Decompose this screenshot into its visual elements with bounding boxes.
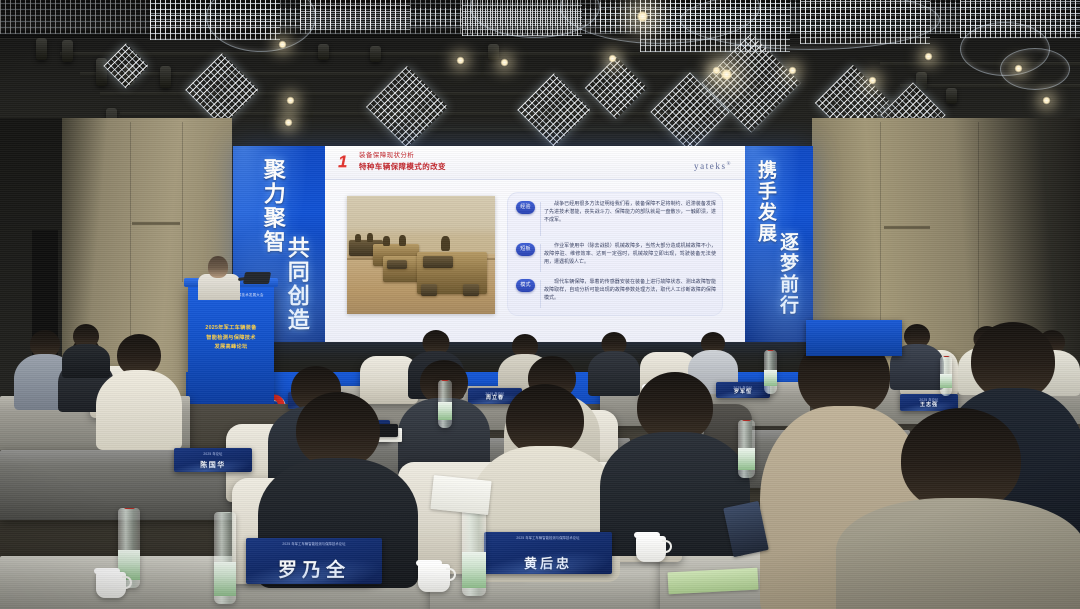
- bottle-label: [438, 402, 452, 420]
- coffee-mug: [418, 564, 450, 592]
- water-bottle: [738, 420, 755, 478]
- nameplate-name: 陈国华: [174, 462, 252, 469]
- vehicle-windshield: [423, 256, 453, 268]
- vehicle-wheel: [463, 284, 479, 296]
- led-video-wall[interactable]: 聚力聚智 共同创造 携手发展 逐梦前行 1 装备保障现状分析 特种车辆保障模式的…: [233, 146, 813, 342]
- track-light: [62, 40, 73, 62]
- slide-title-group: 装备保障现状分析 特种车辆保障模式的改变: [359, 151, 446, 172]
- banner-left-line2: 共同创造: [285, 236, 309, 332]
- track-light: [318, 44, 329, 60]
- row-body-text: 现代车辆保障，靠着的传感器安装在装备上进行故障状态、测出故障智能故障取样，自动分…: [544, 278, 716, 302]
- attendee-torso: [96, 370, 182, 450]
- slide-photo-desert-convoy: [347, 196, 495, 314]
- ceiling-spotlight: [1014, 64, 1023, 73]
- ceiling-spotlight: [1042, 96, 1051, 105]
- attendee: [62, 324, 110, 372]
- ceiling-spotlight: [456, 56, 465, 65]
- nameplate: 2025 年军工车辆智能检测与保障技术论坛 罗乃全: [246, 538, 382, 584]
- podium-title-line2: 智能检测与保障技术: [194, 334, 268, 344]
- coffee-mug: [96, 572, 126, 598]
- document-paper: [667, 568, 758, 595]
- ceiling-spotlight: [284, 118, 293, 127]
- crystal-diamond-drop: [517, 73, 591, 147]
- row-divider: [540, 280, 541, 308]
- banner-left-line1: 聚力聚智: [261, 158, 285, 254]
- nameplate-subtitle: 2025 年论坛: [174, 451, 252, 456]
- ceiling-spotlight: [924, 52, 933, 61]
- attendee: [836, 408, 1080, 609]
- row-pill-label: 经验: [516, 201, 535, 214]
- slide-title-line1: 装备保障现状分析: [359, 151, 446, 161]
- wall-trim: [132, 222, 180, 225]
- ceiling-spotlight: [636, 10, 649, 23]
- banner-right-line2: 逐梦前行: [776, 232, 797, 316]
- row-pill-label: 短板: [516, 243, 535, 256]
- attendee-torso: [600, 432, 750, 556]
- row-pill-label: 模式: [516, 279, 535, 292]
- wall-monitor: [806, 320, 902, 356]
- water-bottle: [438, 380, 452, 428]
- row-body-text: 战争已经用很多方法证明给我们看，装备保障不足将制约、迟滞装备发挥了先进技术潜能，…: [544, 200, 716, 224]
- attendee-head: [901, 408, 1021, 512]
- attendee-torso: [836, 498, 1080, 609]
- track-light: [488, 44, 499, 60]
- water-bottle: [214, 512, 236, 604]
- vehicle-crew: [355, 234, 361, 242]
- bottle-cap: [441, 380, 449, 381]
- ceiling-spotlight: [868, 76, 877, 85]
- yateks-logo: yateks®: [694, 161, 732, 171]
- nameplate-name: 黄后忠: [484, 557, 612, 571]
- slide-section-number: 1: [338, 153, 347, 170]
- registered-mark-icon: ®: [727, 162, 732, 167]
- vehicle-crew: [367, 233, 373, 242]
- nameplate-subtitle: 2025 年军工车辆智能检测与保障技术论坛: [484, 535, 612, 540]
- bottle-cap: [124, 508, 135, 509]
- row-body-text: 作业军使用中（除去战损）机械故障多，当然大部分造成机械故障不小，故障停驻、维修效…: [544, 242, 716, 266]
- crystal-swirl: [206, 0, 316, 52]
- conference-hall-scene: 聚力聚智 共同创造 携手发展 逐梦前行 1 装备保障现状分析 特种车辆保障模式的…: [0, 0, 1080, 609]
- vehicle-window: [387, 260, 407, 269]
- ceiling-spotlight: [788, 66, 797, 75]
- track-light: [36, 38, 47, 60]
- crystal-diamond-drop: [103, 43, 148, 88]
- vehicle-wheel: [421, 284, 437, 296]
- mug-lid: [94, 568, 120, 574]
- ceiling-spotlight: [608, 54, 617, 63]
- crystal-diamond-drop: [366, 66, 448, 148]
- bottle-cap: [220, 512, 231, 513]
- led-banner-right: 携手发展 逐梦前行: [745, 146, 813, 342]
- bottle-label: [214, 562, 236, 596]
- attendee-head: [296, 392, 380, 468]
- row-divider: [540, 202, 541, 236]
- crystal-strand: [300, 0, 410, 30]
- document-paper: [430, 475, 491, 515]
- track-light: [946, 88, 957, 104]
- bottle-label: [462, 552, 486, 588]
- slide-title-line2: 特种车辆保障模式的改变: [359, 161, 446, 172]
- bottle-cap: [742, 420, 751, 421]
- nameplate: 2025 年论坛 陈国华: [174, 448, 252, 472]
- speaker-head: [208, 256, 228, 278]
- crystal-swirl: [1000, 48, 1070, 90]
- slide-info-panel: 经验 战争已经用很多方法证明给我们看，装备保障不足将制约、迟滞装备发挥了先进技术…: [507, 192, 723, 316]
- track-light: [160, 66, 171, 88]
- podium-laptop: [243, 272, 271, 284]
- mug-lid: [634, 532, 660, 538]
- banner-right-line1: 携手发展: [754, 160, 775, 244]
- mug-lid: [416, 560, 442, 566]
- wall-panel-seam: [978, 122, 979, 352]
- nameplate-subtitle: 2025 年军工车辆智能检测与保障技术论坛: [246, 541, 382, 546]
- attendee-torso: [62, 344, 110, 378]
- podium-title-line1: 2025年军工车辆装备: [194, 324, 268, 334]
- ceiling-spotlight: [500, 58, 509, 67]
- vehicle-crew: [383, 236, 390, 246]
- gunner: [441, 236, 450, 251]
- crystal-diamond-drop: [585, 57, 647, 119]
- ceiling-spotlight: [720, 68, 733, 81]
- bottle-label: [738, 448, 755, 470]
- yateks-logo-text: yateks: [694, 161, 727, 171]
- nameplate: 2025 年军工车辆智能检测与保障技术论坛 黄后忠: [484, 532, 612, 574]
- wall-panel-seam: [182, 122, 183, 282]
- presentation-slide: 1 装备保障现状分析 特种车辆保障模式的改变 yateks®: [325, 146, 745, 342]
- wall-trim: [884, 226, 930, 229]
- ceiling-spotlight: [278, 40, 287, 49]
- row-divider: [540, 244, 541, 272]
- podium-title-line3: 发展高峰论坛: [194, 343, 268, 353]
- vehicle-crew: [399, 235, 406, 246]
- nameplate-name: 罗乃全: [246, 561, 382, 581]
- ceiling-slat: [60, 52, 760, 57]
- ceiling-spotlight: [286, 96, 295, 105]
- podium-title-text: 2025年军工车辆装备 智能检测与保障技术 发展高峰论坛: [194, 324, 268, 353]
- coffee-mug: [636, 536, 666, 562]
- track-light: [370, 46, 381, 62]
